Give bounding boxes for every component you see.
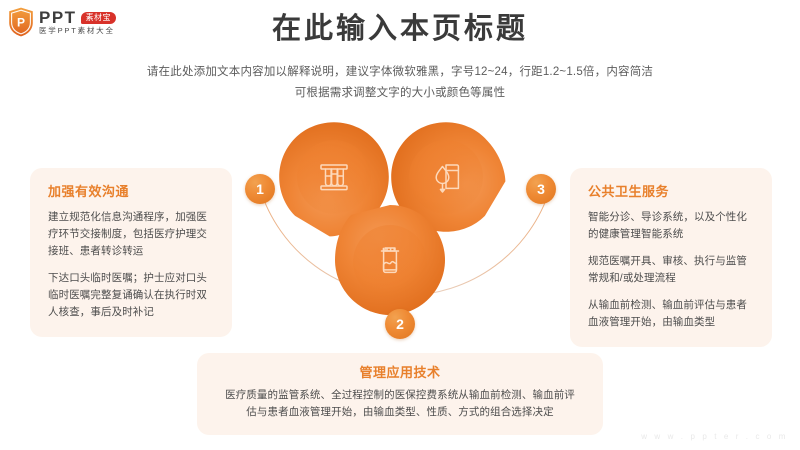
- card-left-title: 加强有效沟通: [48, 184, 214, 200]
- step-bubble-1[interactable]: 1: [245, 174, 275, 204]
- content-card-left[interactable]: 加强有效沟通 建立规范化信息沟通程序，加强医疗环节交接制度，包括医疗护理交接班、…: [30, 168, 232, 337]
- content-card-bottom[interactable]: 管理应用技术 医疗质量的监管系统、全过程控制的医保控费系统从输血前检测、输血前评…: [197, 353, 603, 435]
- step-bubble-2[interactable]: 2: [385, 309, 415, 339]
- page-title: 在此输入本页标题: [0, 14, 800, 46]
- card-right-paragraph-1: 智能分诊、导诊系统，以及个性化的健康管理智能系统: [588, 209, 754, 243]
- card-right-title: 公共卫生服务: [588, 184, 754, 200]
- step-bubble-3[interactable]: 3: [526, 174, 556, 204]
- subtitle-line-2: 可根据需求调整文字的大小或颜色等属性: [100, 83, 700, 104]
- subtitle-line-1: 请在此处添加文本内容加以解释说明，建议字体微软雅黑，字号12~24，行距1.2~…: [100, 62, 700, 83]
- card-left-paragraph-2: 下达口头临时医嘱；护士应对口头临时医嘱完整复诵确认在执行时双人核查，事后及时补记: [48, 270, 214, 321]
- card-right-paragraph-3: 从输血前检测、输血前评估与患者血液管理开始，由输血类型: [588, 297, 754, 331]
- card-left-paragraph-1: 建立规范化信息沟通程序，加强医疗环节交接制度，包括医疗护理交接班、患者转诊转运: [48, 209, 214, 260]
- drop-bottom-center: [335, 205, 445, 315]
- card-bottom-paragraph-1: 医疗质量的监管系统、全过程控制的医保控费系统从输血前检测、输血前评估与患者血液管…: [223, 387, 577, 421]
- card-bottom-title: 管理应用技术: [223, 365, 577, 381]
- content-card-right[interactable]: 公共卫生服务 智能分诊、导诊系统，以及个性化的健康管理智能系统 规范医嘱开具、审…: [570, 168, 772, 347]
- site-watermark: w w w . p p t e r . c o m: [641, 433, 788, 441]
- card-right-paragraph-2: 规范医嘱开具、审核、执行与监管常规和/或处理流程: [588, 253, 754, 287]
- page-subtitle: 请在此处添加文本内容加以解释说明，建议字体微软雅黑，字号12~24，行距1.2~…: [100, 62, 700, 105]
